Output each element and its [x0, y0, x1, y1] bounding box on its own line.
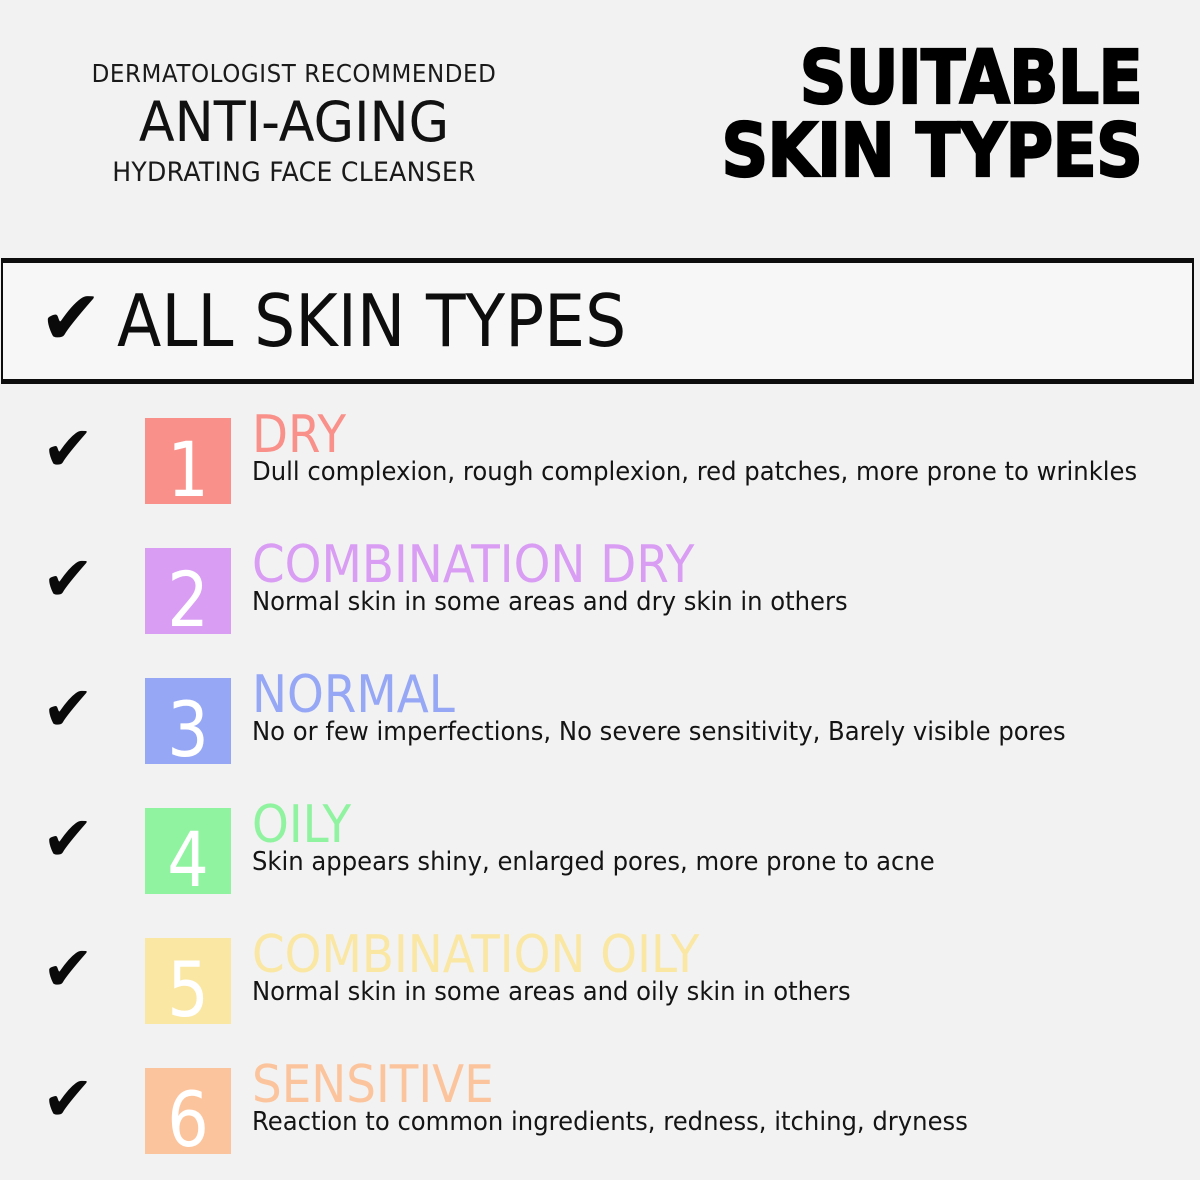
list-item-body: OILY Skin appears shiny, enlarged pores,… — [252, 798, 1196, 877]
list-item-body: SENSITIVE Reaction to common ingredients… — [252, 1058, 1196, 1137]
checkmark-icon: ✔ — [42, 938, 94, 1000]
number-badge-label: 1 — [151, 432, 225, 508]
skin-type-list: ✔ 1 DRY Dull complexion, rough complexio… — [0, 400, 1200, 1180]
list-item: ✔ 1 DRY Dull complexion, rough complexio… — [0, 400, 1200, 530]
checkmark-icon: ✔ — [42, 418, 94, 480]
checkmark-icon: ✔ — [42, 678, 94, 740]
eyebrow-text: DERMATOLOGIST RECOMMENDED — [24, 60, 565, 88]
number-badge: 6 — [145, 1068, 231, 1154]
skin-type-description: Reaction to common ingredients, redness,… — [252, 1108, 1135, 1137]
list-item-body: NORMAL No or few imperfections, No sever… — [252, 668, 1196, 747]
list-item-body: COMBINATION DRY Normal skin in some area… — [252, 538, 1196, 617]
number-badge: 2 — [145, 548, 231, 634]
list-item: ✔ 5 COMBINATION OILY Normal skin in some… — [0, 920, 1200, 1050]
skin-type-label: DRY — [252, 408, 1102, 462]
skin-type-description: Normal skin in some areas and oily skin … — [252, 978, 1135, 1007]
number-badge-label: 5 — [151, 952, 225, 1028]
skin-type-label: NORMAL — [252, 668, 1102, 722]
list-item: ✔ 2 COMBINATION DRY Normal skin in some … — [0, 530, 1200, 660]
list-item: ✔ 4 OILY Skin appears shiny, enlarged po… — [0, 790, 1200, 920]
skin-type-label: SENSITIVE — [252, 1058, 1102, 1112]
checkmark-icon: ✔ — [42, 1068, 94, 1130]
product-subtitle: HYDRATING FACE CLEANSER — [21, 158, 568, 188]
number-badge: 5 — [145, 938, 231, 1024]
number-badge-label: 2 — [151, 562, 225, 638]
number-badge-label: 4 — [151, 822, 225, 898]
skin-type-description: Skin appears shiny, enlarged pores, more… — [252, 848, 1135, 877]
banner-label: ALL SKIN TYPES — [117, 285, 626, 357]
skin-type-label: COMBINATION DRY — [252, 538, 1102, 592]
number-badge-label: 6 — [151, 1082, 225, 1158]
checkmark-icon: ✔ — [42, 548, 94, 610]
list-item-body: COMBINATION OILY Normal skin in some are… — [252, 928, 1196, 1007]
list-item: ✔ 6 SENSITIVE Reaction to common ingredi… — [0, 1050, 1200, 1180]
skin-type-label: OILY — [252, 798, 1102, 852]
number-badge: 1 — [145, 418, 231, 504]
checkmark-icon: ✔ — [42, 808, 94, 870]
header-section: DERMATOLOGIST RECOMMENDED ANTI-AGING HYD… — [0, 0, 1200, 252]
list-item: ✔ 3 NORMAL No or few imperfections, No s… — [0, 660, 1200, 790]
all-skin-types-banner: ✔ ALL SKIN TYPES — [1, 258, 1194, 384]
list-item-body: DRY Dull complexion, rough complexion, r… — [252, 408, 1196, 487]
number-badge: 3 — [145, 678, 231, 764]
product-header: DERMATOLOGIST RECOMMENDED ANTI-AGING HYD… — [0, 60, 588, 188]
page-title: SUITABLE SKIN TYPES — [664, 42, 1142, 187]
title-line-2: SKIN TYPES — [721, 115, 1142, 188]
number-badge: 4 — [145, 808, 231, 894]
skin-type-description: No or few imperfections, No severe sensi… — [252, 718, 1135, 747]
infographic-page: DERMATOLOGIST RECOMMENDED ANTI-AGING HYD… — [0, 0, 1200, 1179]
number-badge-label: 3 — [151, 692, 225, 768]
title-line-1: SUITABLE — [721, 42, 1142, 115]
product-name: ANTI-AGING — [15, 90, 574, 155]
skin-type-description: Normal skin in some areas and dry skin i… — [252, 588, 1135, 617]
skin-type-label: COMBINATION OILY — [252, 928, 1102, 982]
checkmark-icon: ✔ — [39, 280, 103, 356]
skin-type-description: Dull complexion, rough complexion, red p… — [252, 458, 1135, 487]
